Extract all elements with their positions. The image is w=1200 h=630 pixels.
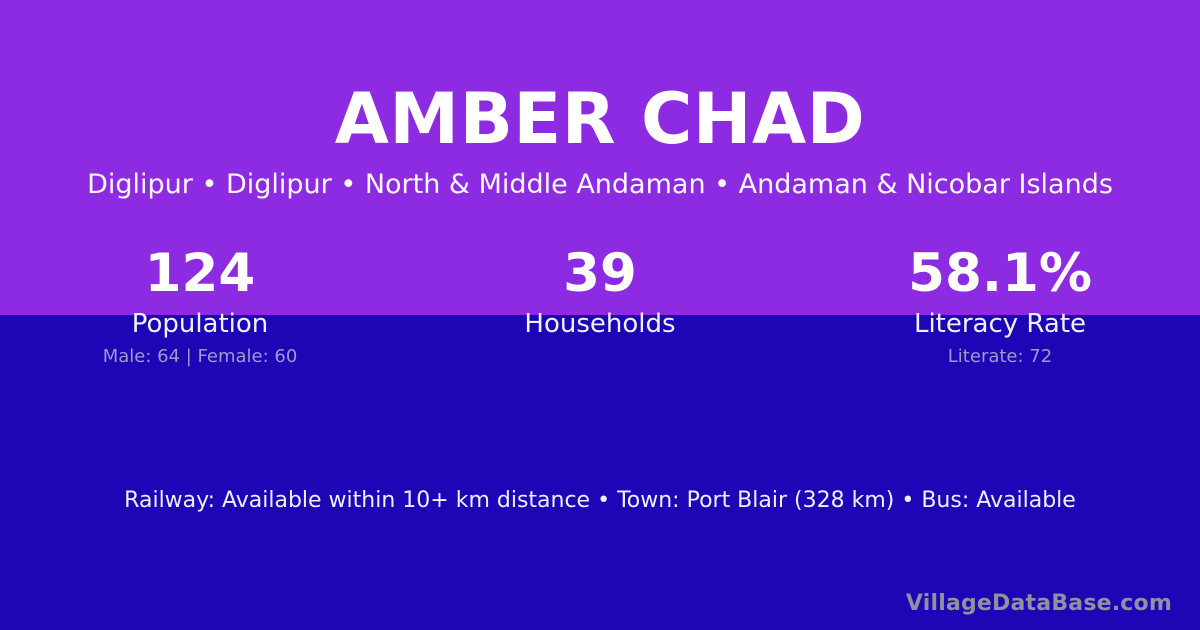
statistics-row: 124 Population Male: 64 | Female: 60 39 …	[0, 246, 1200, 386]
amenity-separator-1: •	[590, 488, 617, 513]
stat-households-value: 39	[400, 246, 800, 302]
amenity-separator-2: •	[894, 488, 921, 513]
stat-population-label: Population	[0, 309, 400, 339]
amenity-railway: Railway: Available within 10+ km distanc…	[124, 488, 590, 513]
site-branding: VillageDataBase.com	[906, 590, 1172, 618]
breadcrumb: Diglipur • Diglipur • North & Middle And…	[0, 156, 1200, 201]
amenity-bus: Bus: Available	[921, 488, 1075, 513]
stat-population-value: 124	[0, 246, 400, 302]
stat-literacy-breakdown: Literate: 72	[800, 346, 1200, 368]
page-title: AMBER CHAD	[0, 0, 1200, 156]
amenity-nearest-town: Town: Port Blair (328 km)	[617, 488, 894, 513]
card-header: AMBER CHAD Diglipur • Diglipur • North &…	[0, 0, 1200, 201]
stat-households-label: Households	[400, 309, 800, 339]
stat-households: 39 Households	[400, 246, 800, 386]
amenities-summary: Railway: Available within 10+ km distanc…	[0, 486, 1200, 516]
village-info-card: AMBER CHAD Diglipur • Diglipur • North &…	[0, 0, 1200, 630]
stat-population: 124 Population Male: 64 | Female: 60	[0, 246, 400, 386]
stat-literacy: 58.1% Literacy Rate Literate: 72	[800, 246, 1200, 386]
stat-literacy-value: 58.1%	[800, 246, 1200, 302]
stat-households-breakdown	[400, 346, 800, 368]
stat-literacy-label: Literacy Rate	[800, 309, 1200, 339]
stat-population-breakdown: Male: 64 | Female: 60	[0, 346, 400, 368]
